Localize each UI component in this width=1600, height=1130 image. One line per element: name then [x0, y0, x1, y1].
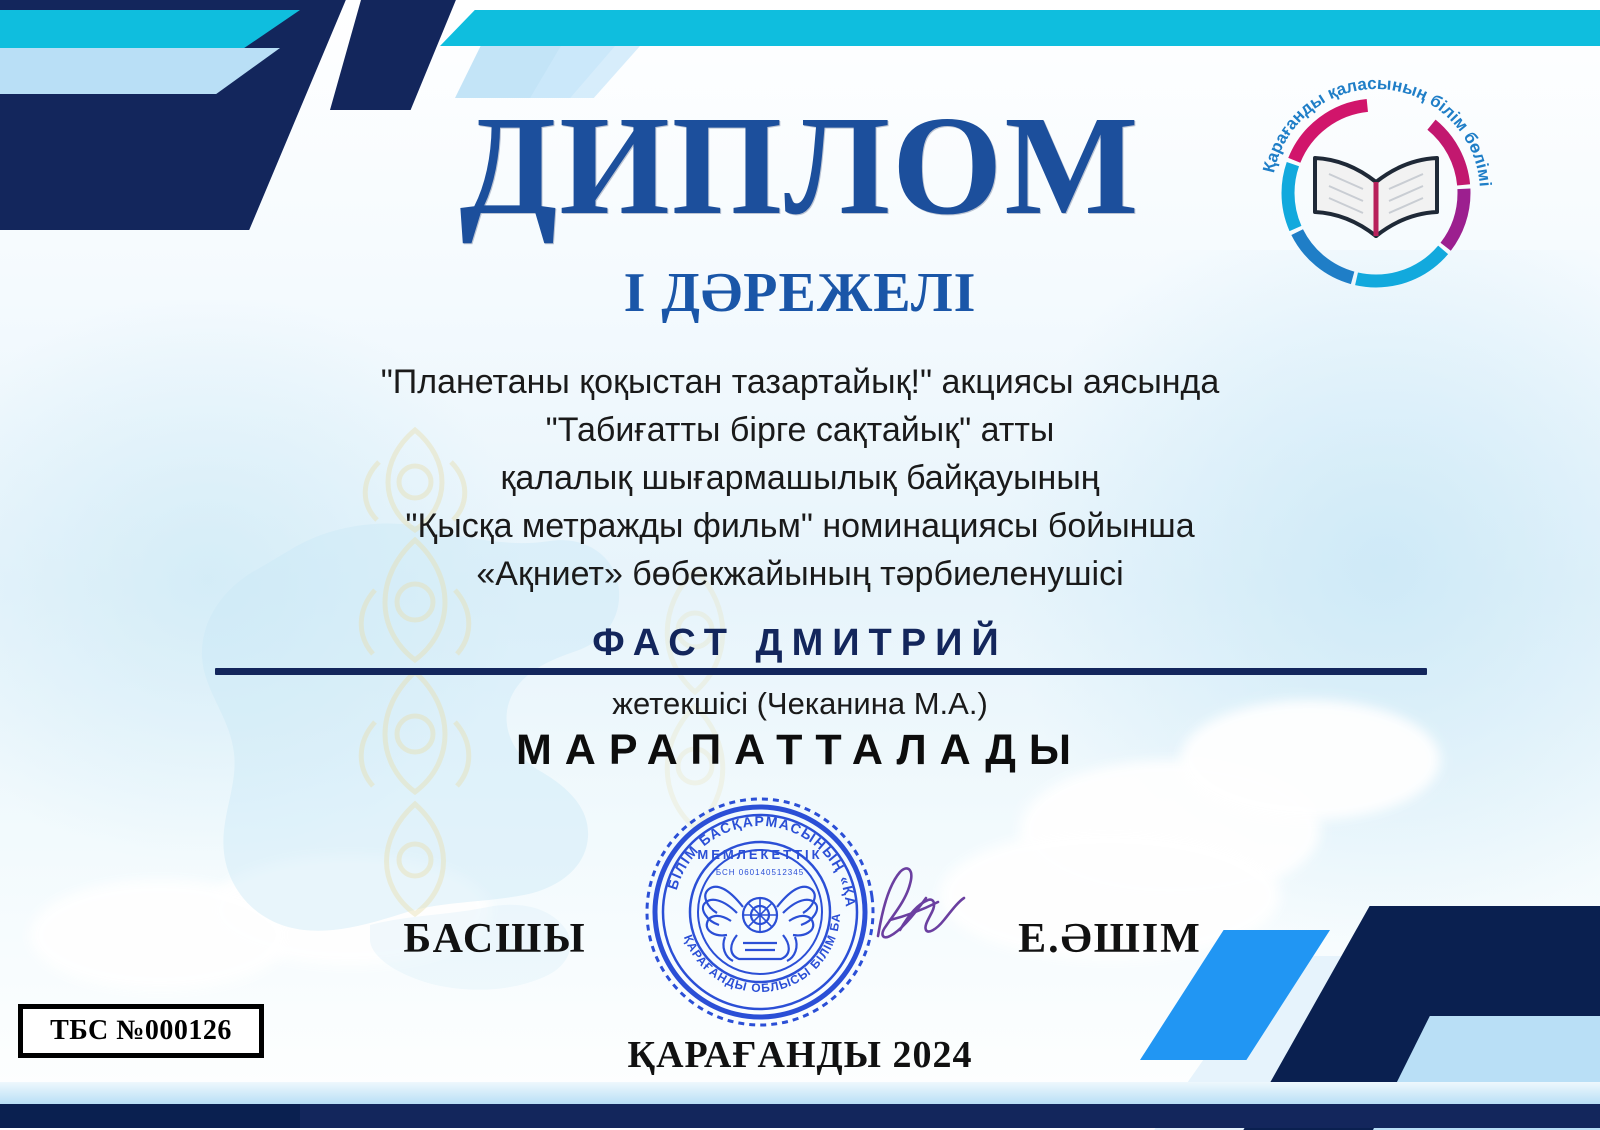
- awarded-statement: МАРАПАТТАЛАДЫ: [0, 726, 1600, 775]
- serial-number-box: ТБС №000126: [18, 1004, 264, 1058]
- certificate-content: ДИПЛОМ І ДӘРЕЖЕЛІ "Планетаны қоқыстан та…: [0, 0, 1600, 1130]
- signatory-name: Е.ӘШІМ: [930, 915, 1290, 963]
- awardee-name: ФАСТ ДМИТРИЙ: [0, 622, 1600, 665]
- signature-role-label: БАСШЫ: [330, 915, 660, 963]
- svg-text:БСН 060140512345: БСН 060140512345: [716, 868, 804, 877]
- body-line: "Қысқа метражды фильм" номинациясы бойын…: [0, 502, 1600, 550]
- official-stamp: БІЛІМ БАСҚАРМАСЫНЫҢ «ҚАРАҒАНДЫ ҚАРАҒАНДЫ…: [625, 787, 895, 1037]
- body-line: "Планетаны қоқыстан тазартайық!" акциясы…: [0, 358, 1600, 406]
- page-title: ДИПЛОМ: [0, 94, 1600, 236]
- name-underline-rule: [215, 668, 1427, 675]
- body-line: қалалық шығармашылық байқауының: [0, 454, 1600, 502]
- diploma-body-text: "Планетаны қоқыстан тазартайық!" акциясы…: [0, 358, 1600, 598]
- diploma-degree: І ДӘРЕЖЕЛІ: [0, 265, 1600, 321]
- body-line: "Табиғатты бірге сақтайық" атты: [0, 406, 1600, 454]
- supervisor-name: жетекшісі (Чеканина М.А.): [0, 686, 1600, 722]
- diploma-certificate: Қарағанды қаласының білім бөлімі ДИПЛОМ …: [0, 0, 1600, 1130]
- serial-number-text: ТБС №000126: [50, 1015, 232, 1047]
- body-line: «Ақниет» бөбекжайының тәрбиеленушісі: [0, 550, 1600, 598]
- svg-text:МЕМЛЕКЕТТІК: МЕМЛЕКЕТТІК: [697, 847, 822, 862]
